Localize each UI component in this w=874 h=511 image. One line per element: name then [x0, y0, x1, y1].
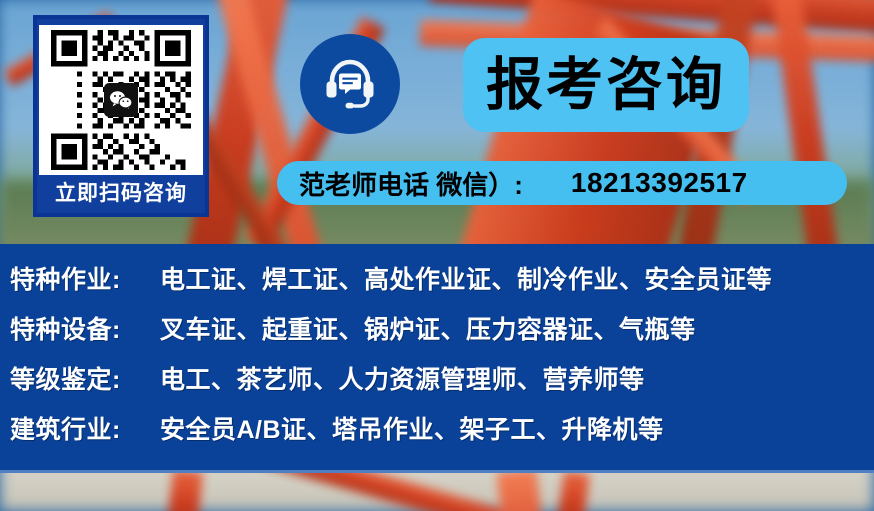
contact-phone-bar[interactable]: 范老师电话 微信）: 18213392517	[277, 161, 847, 205]
qr-code-image[interactable]	[39, 25, 203, 175]
info-row-value: 安全员A/B证、塔吊作业、架子工、升降机等	[160, 410, 664, 446]
enrollment-consult-label: 报考咨询	[486, 57, 726, 114]
contact-phone-number[interactable]: 18213392517	[571, 167, 748, 199]
info-row-value: 叉车证、起重证、锅炉证、压力容器证、气瓶等	[160, 310, 696, 346]
wechat-glyph	[109, 90, 133, 110]
qr-caption: 立即扫码咨询	[43, 175, 199, 213]
headset-glyph	[319, 53, 381, 115]
info-row-grade-appraisal: 等级鉴定: 电工、茶艺师、人力资源管理师、营养师等	[10, 360, 874, 410]
info-row-value: 电工、茶艺师、人力资源管理师、营养师等	[160, 360, 645, 396]
info-row-special-equipment: 特种设备: 叉车证、起重证、锅炉证、压力容器证、气瓶等	[10, 310, 874, 360]
contact-label: 范老师电话 微信）:	[299, 165, 523, 202]
info-row-label: 特种设备:	[10, 310, 160, 346]
info-row-label: 特种作业:	[10, 260, 160, 296]
info-row-value: 电工证、焊工证、高处作业证、制冷作业、安全员证等	[160, 260, 772, 296]
headset-support-icon	[300, 34, 400, 134]
info-row-label: 建筑行业:	[10, 410, 160, 446]
info-row-label: 等级鉴定:	[10, 360, 160, 396]
wechat-icon	[104, 83, 138, 117]
certification-list-panel: 特种作业: 电工证、焊工证、高处作业证、制冷作业、安全员证等 特种设备: 叉车证…	[0, 244, 874, 470]
qr-card[interactable]: 立即扫码咨询	[33, 15, 209, 217]
enrollment-consult-button[interactable]: 报考咨询	[463, 38, 749, 132]
info-row-special-operations: 特种作业: 电工证、焊工证、高处作业证、制冷作业、安全员证等	[10, 260, 874, 310]
panel-bottom-edge	[0, 470, 874, 473]
info-row-construction-industry: 建筑行业: 安全员A/B证、塔吊作业、架子工、升降机等	[10, 410, 874, 460]
promo-poster: 立即扫码咨询 报考咨询 范老师电话 微信）: 18213392517 特种作业:…	[0, 0, 874, 511]
